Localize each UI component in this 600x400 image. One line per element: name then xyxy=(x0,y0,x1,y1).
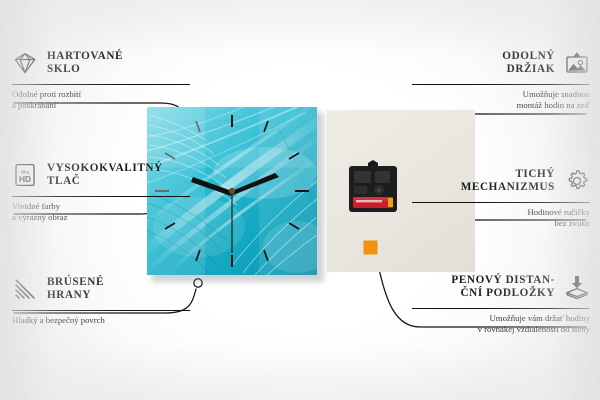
ultra-hd-icon: ultra HD xyxy=(12,162,38,188)
feature-title: TICHÝMECHANIZMUS xyxy=(412,168,555,195)
divider xyxy=(412,202,590,203)
feature-description: Umožňuje snadnoumontáž hodin na zeď xyxy=(412,89,590,111)
feature-silent-mechanism: TICHÝMECHANIZMUS Hodinové ručičkybez zvu… xyxy=(412,164,590,229)
feature-title: VYSOKOKVALITNÝTLAČ xyxy=(47,162,190,189)
feature-description: Hodinové ručičkybez zvuku xyxy=(412,207,590,229)
foam-pad-top xyxy=(364,241,378,255)
feature-title: ODOLNÝDRŽIAK xyxy=(412,50,555,77)
feature-description: Umožňuje vám držať hodinyv rovnakej vzdi… xyxy=(412,313,590,335)
feature-title: BRÚSENÉHRANY xyxy=(47,276,190,303)
infographic-canvas: HARTOVANÉSKLO Odolné proti rozbitía pošk… xyxy=(0,0,600,400)
feature-description: Odolné proti rozbitía poškrábání xyxy=(12,89,190,111)
foam-spacer-image xyxy=(363,240,382,259)
feature-header: PENOVÝ DISTAN-ČNÍ PODLOŽKY xyxy=(412,270,590,304)
bevelled-edge-icon xyxy=(12,276,38,302)
feature-description: Vividné farbya výrazný obraz xyxy=(12,201,190,223)
feature-header: ODOLNÝDRŽIAK xyxy=(412,46,590,80)
feature-tempered-glass: HARTOVANÉSKLO Odolné proti rozbitía pošk… xyxy=(12,46,190,111)
divider xyxy=(412,308,590,309)
feature-high-quality-print: ultra HD VYSOKOKVALITNÝTLAČ Vividné farb… xyxy=(12,158,190,223)
feature-title: HARTOVANÉSKLO xyxy=(47,50,190,77)
foam-pad-icon xyxy=(564,274,590,300)
feature-description: Hladký a bezpečný povrch xyxy=(12,315,190,326)
divider xyxy=(12,84,190,85)
picture-hanger-icon xyxy=(564,50,590,76)
feature-header: TICHÝMECHANIZMUS xyxy=(412,164,590,198)
svg-text:HD: HD xyxy=(19,174,31,184)
feature-durable-holder: ODOLNÝDRŽIAK Umožňuje snadnoumontáž hodi… xyxy=(412,46,590,111)
diamond-icon xyxy=(12,50,38,76)
feature-header: ultra HD VYSOKOKVALITNÝTLAČ xyxy=(12,158,190,192)
feature-header: BRÚSENÉHRANY xyxy=(12,272,190,306)
gear-icon xyxy=(564,168,590,194)
feature-title: PENOVÝ DISTAN-ČNÍ PODLOŽKY xyxy=(412,274,555,301)
feature-foam-spacers: PENOVÝ DISTAN-ČNÍ PODLOŽKY Umožňuje vám … xyxy=(412,270,590,335)
feature-polished-edges: BRÚSENÉHRANY Hladký a bezpečný povrch xyxy=(12,272,190,326)
feature-header: HARTOVANÉSKLO xyxy=(12,46,190,80)
divider xyxy=(412,84,590,85)
clock-mechanism-image xyxy=(346,160,400,218)
divider xyxy=(12,196,190,197)
divider xyxy=(12,310,190,311)
